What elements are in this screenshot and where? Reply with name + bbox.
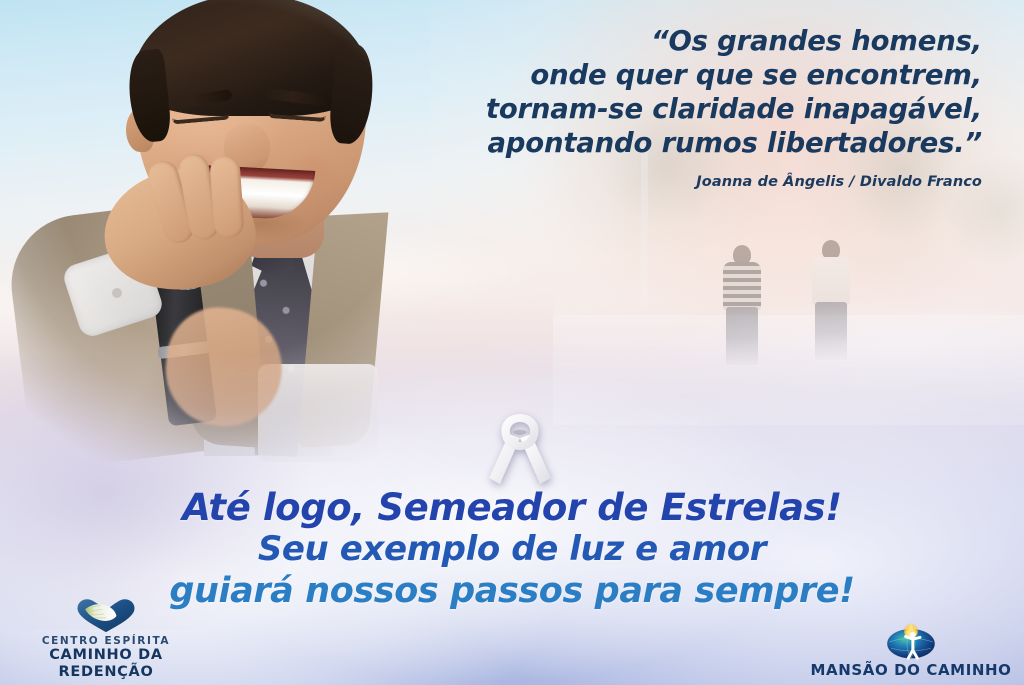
- portrait-hair-right: [328, 42, 377, 145]
- globe-torch-figure-icon: [806, 622, 1016, 660]
- portrait-fade-mask: [8, 0, 460, 462]
- headline-line-2: Seu exemplo de luz e amor: [0, 529, 1024, 570]
- logo-left-line-2: CAMINHO DA REDENÇÃO: [6, 647, 206, 681]
- quote-block: “Os grandes homens, onde quer que se enc…: [422, 24, 982, 190]
- logo-mansao-do-caminho: MANSÃO DO CAMINHO: [806, 622, 1016, 679]
- quote-line-2: onde quer que se encontrem,: [422, 58, 982, 92]
- quote-line-3: tornam-se claridade inapagável,: [422, 92, 982, 126]
- heart-hand-icon: [6, 596, 206, 634]
- memorial-poster: “Os grandes homens, onde quer que se enc…: [0, 0, 1024, 685]
- logo-centro-espirita: CENTRO ESPÍRITA CAMINHO DA REDENÇÃO: [6, 596, 206, 681]
- headline-line-1: Até logo, Semeador de Estrelas!: [0, 486, 1024, 529]
- portrait-divaldo-franco: [8, 0, 460, 462]
- logo-left-line-1: CENTRO ESPÍRITA: [6, 635, 206, 647]
- white-ribbon-icon: [487, 410, 553, 486]
- logo-right-line-1: MANSÃO DO CAMINHO: [806, 661, 1016, 679]
- portrait-finger-3: [209, 155, 245, 239]
- portrait-cuff-button: [112, 288, 122, 298]
- headline-block: Até logo, Semeador de Estrelas! Seu exem…: [0, 486, 1024, 612]
- quote-line-4: apontando rumos libertadores.”: [422, 126, 982, 160]
- quote-attribution: Joanna de Ângelis / Divaldo Franco: [422, 174, 982, 190]
- quote-line-1: “Os grandes homens,: [422, 24, 982, 58]
